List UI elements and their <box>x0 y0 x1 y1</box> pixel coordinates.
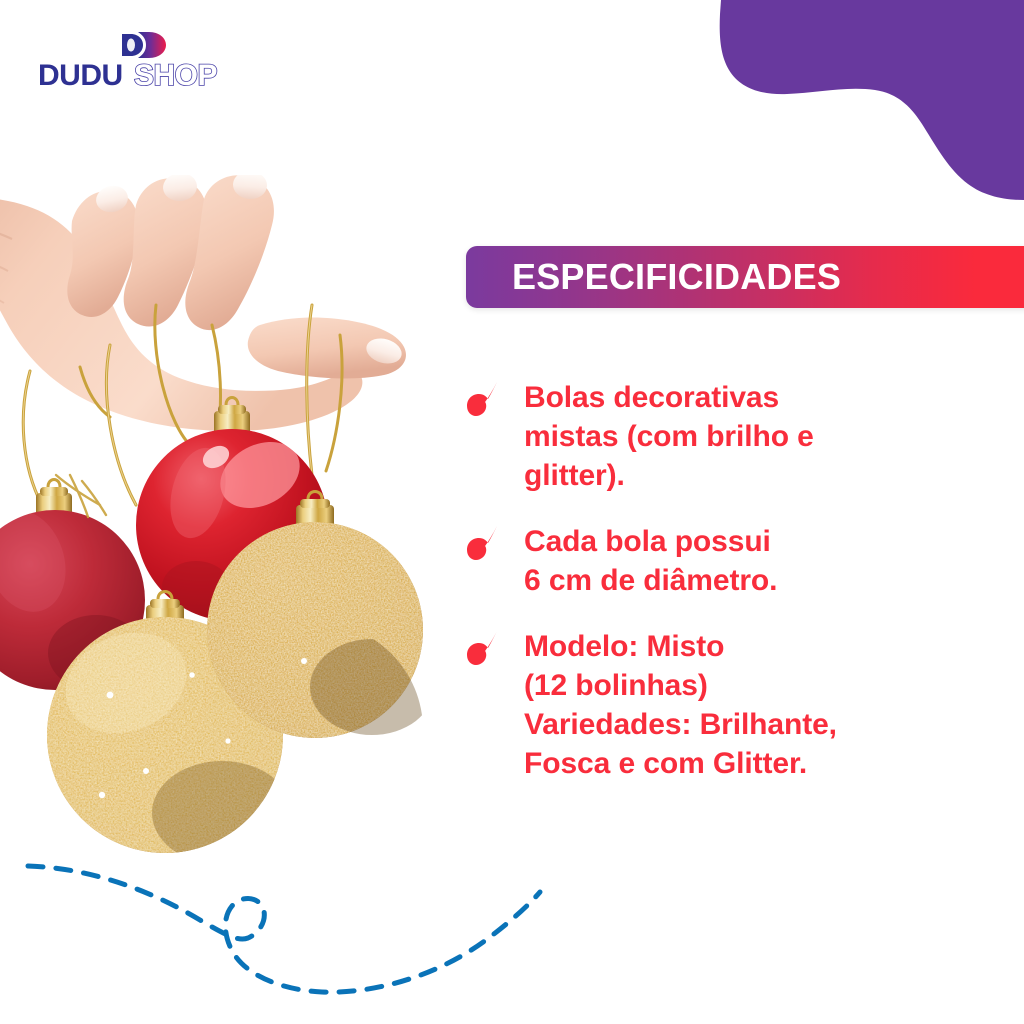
list-item-text: Bolas decorativas mistas (com brilho e g… <box>524 378 814 495</box>
brand-logo[interactable]: DUDU SHOP <box>38 28 238 94</box>
check-icon <box>466 524 508 564</box>
check-icon <box>466 629 508 669</box>
dd-monogram-icon <box>116 28 172 62</box>
poster-canvas: DUDU SHOP <box>0 0 1024 1024</box>
hand-illustration <box>0 175 406 431</box>
list-item: Modelo: Misto (12 bolinhas) Variedades: … <box>466 627 986 783</box>
list-item: Cada bola possui 6 cm de diâmetro. <box>466 522 986 600</box>
banner-title: ESPECIFICIDADES <box>466 259 841 295</box>
list-item-text: Modelo: Misto (12 bolinhas) Variedades: … <box>524 627 837 783</box>
product-photo <box>0 175 460 875</box>
logo-text-shop: SHOP <box>134 59 217 92</box>
logo-wordmark: DUDU SHOP <box>38 58 238 92</box>
logo-text-dudu: DUDU <box>38 59 123 92</box>
specifications-list: Bolas decorativas mistas (com brilho e g… <box>466 378 986 783</box>
check-icon <box>466 380 508 420</box>
purple-blob <box>584 0 1024 200</box>
specifications-banner: ESPECIFICIDADES <box>466 246 1024 308</box>
list-item-text: Cada bola possui 6 cm de diâmetro. <box>524 522 777 600</box>
list-item: Bolas decorativas mistas (com brilho e g… <box>466 378 986 495</box>
